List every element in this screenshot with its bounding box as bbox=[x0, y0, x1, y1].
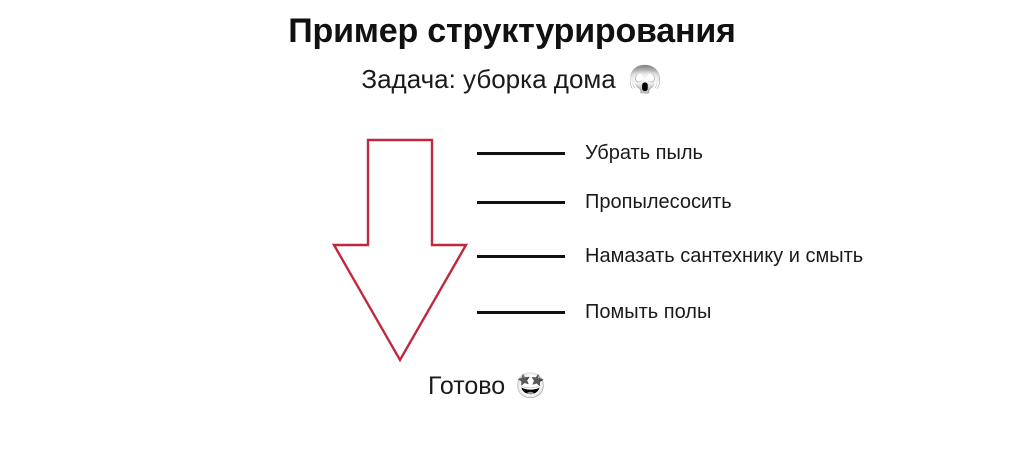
face-screaming-in-fear-icon: 😱 bbox=[628, 66, 663, 94]
down-arrow-icon bbox=[326, 134, 474, 366]
subtitle-text: Задача: уборка дома bbox=[361, 64, 615, 95]
list-item[interactable]: Убрать пыль bbox=[477, 138, 703, 168]
star-struck-icon: 🤩 bbox=[515, 374, 546, 399]
task-label: Убрать пыль bbox=[585, 142, 703, 165]
subtitle-row: Задача: уборка дома 😱 bbox=[0, 64, 1024, 95]
dash-icon bbox=[477, 152, 565, 155]
list-item[interactable]: Намазать сантехнику и смыть bbox=[477, 241, 863, 271]
list-item[interactable]: Пропылесосить bbox=[477, 187, 732, 217]
list-item[interactable]: Помыть полы bbox=[477, 297, 711, 327]
dash-icon bbox=[477, 201, 565, 204]
slide-canvas: Пример структурирования Задача: уборка д… bbox=[0, 0, 1024, 455]
down-arrow-graphic bbox=[326, 134, 474, 366]
done-label: Готово bbox=[428, 372, 505, 401]
arrow-outline bbox=[334, 140, 466, 360]
page-title: Пример структурирования bbox=[0, 12, 1024, 51]
done-row: Готово 🤩 bbox=[428, 372, 546, 401]
dash-icon bbox=[477, 255, 565, 258]
task-label: Пропылесосить bbox=[585, 191, 732, 214]
task-label: Помыть полы bbox=[585, 301, 711, 324]
dash-icon bbox=[477, 311, 565, 314]
task-label: Намазать сантехнику и смыть bbox=[585, 245, 863, 268]
